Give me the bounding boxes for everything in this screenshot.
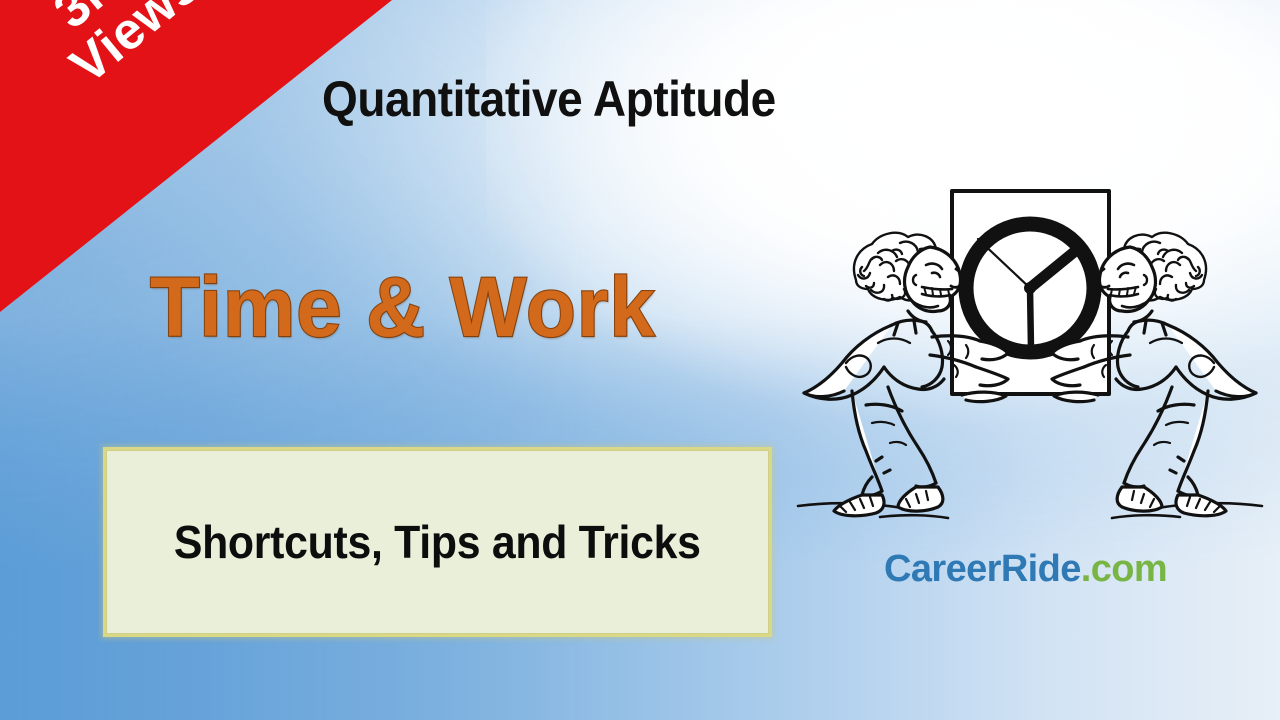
two-men-carrying-clock-illustration xyxy=(780,165,1280,535)
brand-logo: CareerRide.com xyxy=(884,548,1167,591)
clock-minute-hand xyxy=(1030,288,1031,349)
subtitle-box: Shortcuts, Tips and Tricks xyxy=(103,447,772,637)
shoes-right xyxy=(1117,487,1226,516)
legs-right xyxy=(1124,387,1208,496)
shoes-left xyxy=(834,487,943,516)
legs-left xyxy=(852,387,936,496)
clock-center-pin xyxy=(1024,282,1036,294)
brand-name: CareerRide xyxy=(884,548,1081,590)
neck-collar-right xyxy=(1128,311,1168,335)
page-title: Time & Work xyxy=(150,259,656,356)
headline-subject: Quantitative Aptitude xyxy=(322,70,776,128)
subtitle-box-inner-border: Shortcuts, Tips and Tricks xyxy=(106,450,769,634)
video-thumbnail-slide: 3M+ Views Quantitative Aptitude Time & W… xyxy=(0,0,1280,720)
torso-right xyxy=(1116,325,1256,399)
neck-collar-left xyxy=(892,311,932,335)
brand-tld: .com xyxy=(1081,548,1167,590)
subtitle-text: Shortcuts, Tips and Tricks xyxy=(157,514,717,570)
torso-left xyxy=(804,325,944,399)
